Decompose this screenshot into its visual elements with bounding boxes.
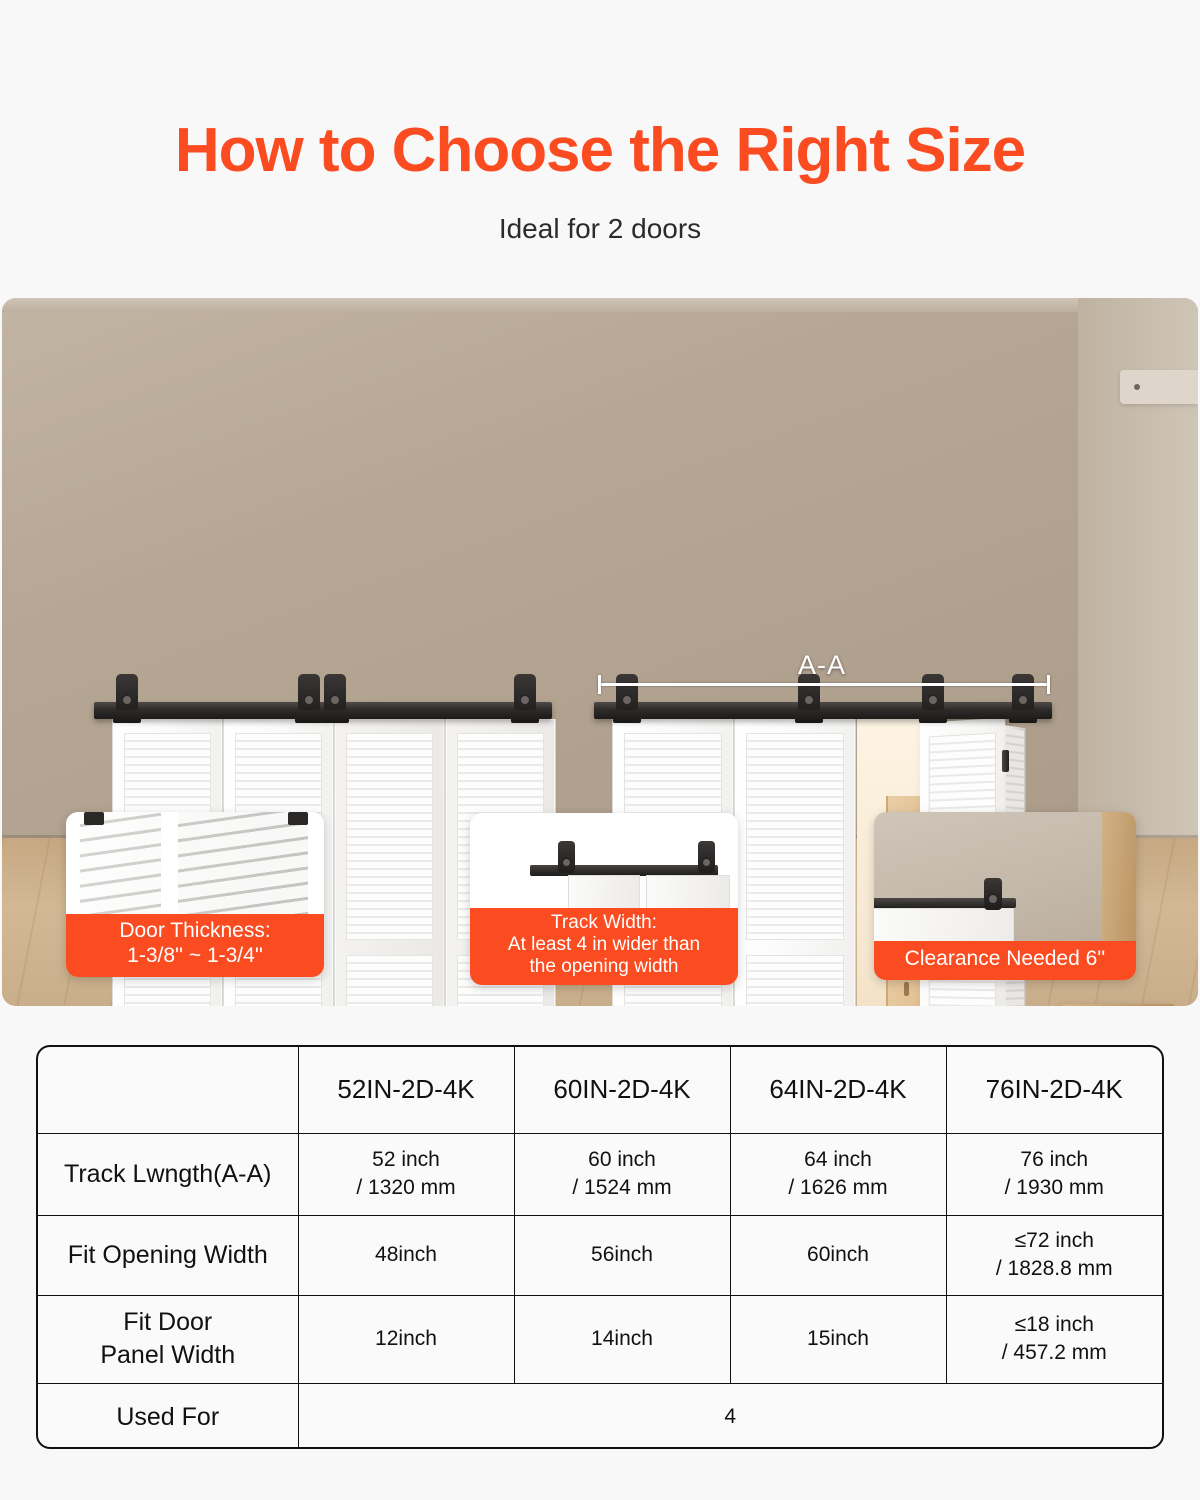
spec-table: 52IN-2D-4K 60IN-2D-4K 64IN-2D-4K 76IN-2D… (38, 1047, 1162, 1449)
row-label-fit-opening-width: Fit Opening Width (38, 1215, 298, 1295)
bookshelf (1062, 1004, 1174, 1006)
callout-line-1: Clearance Needed 6'' (878, 947, 1132, 971)
page-subtitle: Ideal for 2 doors (0, 213, 1200, 245)
cell-line-1: 60inch (737, 1241, 940, 1269)
row-label-fit-door-panel-width: Fit Door Panel Width (38, 1295, 298, 1383)
callout-band-clearance: Clearance Needed 6'' (874, 941, 1136, 980)
cell-line-1: 15inch (737, 1325, 940, 1353)
cell-line-2: / 457.2 mm (953, 1339, 1157, 1367)
cell-line-2: / 1828.8 mm (953, 1255, 1157, 1283)
table-cell: 12inch (298, 1295, 514, 1383)
callout-band-track-width: Track Width: At least 4 in wider than th… (470, 908, 738, 985)
door-cap (288, 812, 308, 825)
callout-clearance: Clearance Needed 6'' (874, 812, 1136, 980)
roller-hanger (298, 674, 320, 714)
pillar-trim (1120, 370, 1198, 404)
sliding-track-right (594, 702, 1052, 719)
cell-line-1: ≤72 inch (953, 1227, 1157, 1255)
dimension-line-aa (598, 683, 1050, 686)
callout-line-3: the opening width (474, 956, 734, 978)
roller-hanger-foot (321, 710, 349, 723)
cell-line-2: / 1626 mm (737, 1174, 940, 1202)
table-cell: 76 inch / 1930 mm (946, 1133, 1162, 1215)
table-cell: 60 inch / 1524 mm (514, 1133, 730, 1215)
cell-line-1: 76 inch (953, 1146, 1157, 1174)
callout-door-thickness: Door Thickness: 1-3/8'' ~ 1-3/4'' (66, 812, 324, 977)
cell-line-2: / 1524 mm (521, 1174, 724, 1202)
column-header-3: 76IN-2D-4K (946, 1047, 1162, 1133)
table-cell: 48inch (298, 1215, 514, 1295)
cell-line-1: 60 inch (521, 1146, 724, 1174)
table-cell: ≤72 inch / 1828.8 mm (946, 1215, 1162, 1295)
row-label-used-for: Used For (38, 1383, 298, 1449)
roller-hanger (324, 674, 346, 714)
callout-line-1: Track Width: (474, 912, 734, 934)
cell-line-1: ≤18 inch (953, 1311, 1157, 1339)
cell-line-1: 14inch (521, 1325, 724, 1353)
roller-hanger (1012, 674, 1034, 714)
spec-table-container: 52IN-2D-4K 60IN-2D-4K 64IN-2D-4K 76IN-2D… (36, 1045, 1164, 1449)
table-cell: 64 inch / 1626 mm (730, 1133, 946, 1215)
table-row: Fit Door Panel Width 12inch 14inch 15inc… (38, 1295, 1162, 1383)
cell-line-1: 64 inch (737, 1146, 940, 1174)
door-panel (734, 719, 856, 1006)
page-title: How to Choose the Right Size (0, 118, 1200, 183)
table-row: Fit Opening Width 48inch 56inch 60inch (38, 1215, 1162, 1295)
table-cell: 15inch (730, 1295, 946, 1383)
roller-hanger-foot (113, 710, 141, 723)
pillar-screw (1134, 384, 1140, 390)
dimension-endcap-right (1047, 675, 1050, 694)
table-row: Used For 4 (38, 1383, 1162, 1449)
row-label-track-length: Track Lwngth(A-A) (38, 1133, 298, 1215)
door-cap (84, 812, 104, 825)
table-cell: 52 inch / 1320 mm (298, 1133, 514, 1215)
cell-line-2: / 1320 mm (305, 1174, 508, 1202)
roller-hanger (616, 674, 638, 714)
roller-hanger (698, 841, 715, 873)
roller-hanger (558, 841, 575, 873)
cell-line-1: 52 inch (305, 1146, 508, 1174)
table-row: Track Lwngth(A-A) 52 inch / 1320 mm 60 i… (38, 1133, 1162, 1215)
callout-line-2: At least 4 in wider than (474, 934, 734, 956)
roller-hanger-foot (919, 710, 947, 723)
callout-line-2: 1-3/8'' ~ 1-3/4'' (72, 944, 318, 968)
table-cell: 14inch (514, 1295, 730, 1383)
roller-hanger (514, 674, 536, 714)
column-header-1: 60IN-2D-4K (514, 1047, 730, 1133)
roller-hanger (922, 674, 944, 714)
dimension-label-aa: A-A (742, 650, 902, 681)
roller-hanger-foot (511, 710, 539, 723)
room-ceiling (2, 298, 1198, 312)
column-header-2: 64IN-2D-4K (730, 1047, 946, 1133)
roller-hanger (116, 674, 138, 714)
column-header-0: 52IN-2D-4K (298, 1047, 514, 1133)
roller-hanger-foot (795, 710, 823, 723)
roller-hanger-foot (613, 710, 641, 723)
row-label-line-2: Panel Width (44, 1339, 292, 1372)
cell-line-1: 12inch (305, 1325, 508, 1353)
infographic-page: How to Choose the Right Size Ideal for 2… (0, 0, 1200, 1500)
callout-line-1: Door Thickness: (72, 919, 318, 943)
dimension-endcap-left (598, 675, 601, 694)
cell-line-1: 48inch (305, 1241, 508, 1269)
roller-hanger-foot (295, 710, 323, 723)
roller-hanger (984, 878, 1002, 910)
table-cell: ≤18 inch / 457.2 mm (946, 1295, 1162, 1383)
cell-line-1: 56inch (521, 1241, 724, 1269)
hallway-door-handle (904, 982, 909, 996)
table-corner-cell (38, 1047, 298, 1133)
callout-band-door-thickness: Door Thickness: 1-3/8'' ~ 1-3/4'' (66, 914, 324, 977)
bookshelf-edge (1102, 812, 1136, 942)
roller-hanger-foot (1009, 710, 1037, 723)
cell-line-2: / 1930 mm (953, 1174, 1157, 1202)
callout-track-width: Track Width: At least 4 in wider than th… (470, 813, 738, 985)
table-cell: 56inch (514, 1215, 730, 1295)
door-panel (334, 719, 445, 1006)
table-cell: 60inch (730, 1215, 946, 1295)
table-cell-merged-used-for: 4 (298, 1383, 1162, 1449)
table-header-row: 52IN-2D-4K 60IN-2D-4K 64IN-2D-4K 76IN-2D… (38, 1047, 1162, 1133)
door-hinge-top (1002, 750, 1009, 772)
row-label-line-1: Fit Door (44, 1306, 292, 1339)
